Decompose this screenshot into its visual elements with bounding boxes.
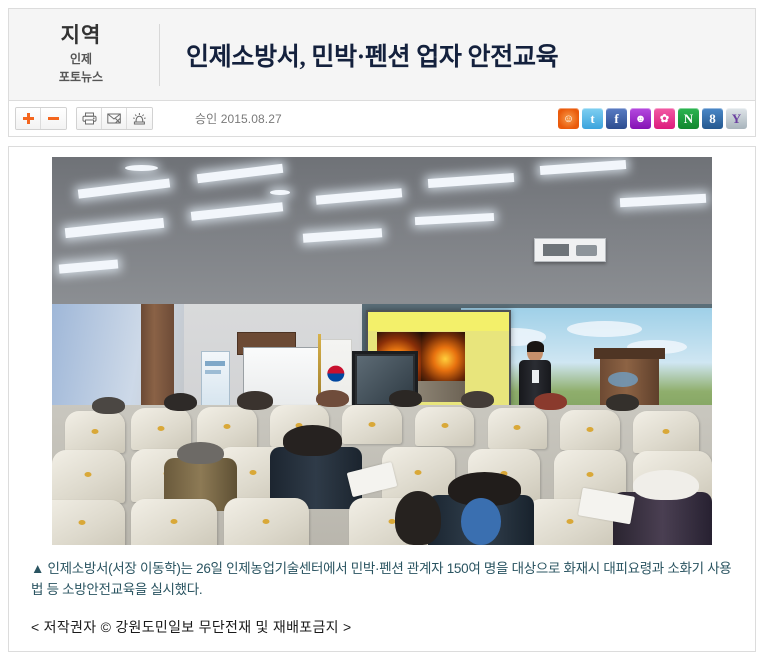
article-body: ▲ 인제소방서(서장 이동학)는 26일 인제농업기술센터에서 민박·펜션 관계… xyxy=(8,146,756,652)
caption-text: 인제소방서(서장 이동학)는 26일 인제농업기술센터에서 민박·펜션 관계자 … xyxy=(31,561,731,597)
auditorium-seat xyxy=(131,499,217,545)
audience-area xyxy=(52,405,712,545)
section-main-label: 지역 xyxy=(9,23,153,49)
screen-title-band xyxy=(368,312,509,331)
approve-date: 승인 2015.08.27 xyxy=(195,110,282,127)
font-increase-button[interactable] xyxy=(16,108,41,129)
attendee-head xyxy=(177,442,223,464)
attendee-head xyxy=(633,470,699,501)
copyright-notice: < 저작권자 © 강원도민일보 무단전재 및 재배포금지 > xyxy=(31,617,733,637)
attendee-head xyxy=(461,391,494,408)
sns-facebook-button[interactable]: f xyxy=(606,108,627,129)
auditorium-seat xyxy=(131,408,190,450)
section-category[interactable]: 지역 인제 포토뉴스 xyxy=(9,23,159,85)
scrap-button[interactable] xyxy=(127,108,152,129)
article-toolbar: 승인 2015.08.27 ☺ t f ☻ ✿ N 8 Y xyxy=(8,101,756,137)
auditorium-seat xyxy=(342,405,401,444)
downlight xyxy=(125,165,158,171)
attendee-head xyxy=(606,394,639,411)
minus-icon xyxy=(48,113,59,124)
sns-googleplus-glyph: 8 xyxy=(709,111,716,127)
mail-button[interactable] xyxy=(102,108,127,129)
auditorium-seat xyxy=(65,411,124,453)
section-sub-label-type: 포토뉴스 xyxy=(9,68,153,86)
projector xyxy=(534,238,607,261)
photo-wrap xyxy=(9,157,755,545)
auditorium-seat xyxy=(52,450,125,503)
sns-facebook-glyph: f xyxy=(614,111,618,127)
sns-yozm-button[interactable]: ✿ xyxy=(654,108,675,129)
sns-naver-glyph: N xyxy=(684,111,693,127)
siren-icon xyxy=(132,112,147,125)
font-size-button-group xyxy=(15,107,67,130)
sns-kakaostory-button[interactable]: ☻ xyxy=(630,108,651,129)
section-sub-label-region: 인제 xyxy=(9,50,153,68)
sns-yozm-glyph: ✿ xyxy=(660,112,669,125)
auditorium-seat xyxy=(52,500,125,545)
sns-naver-button[interactable]: N xyxy=(678,108,699,129)
sns-twitter-button[interactable]: t xyxy=(582,108,603,129)
article-header: 지역 인제 포토뉴스 인제소방서, 민박·펜션 업자 안전교육 xyxy=(8,8,756,101)
photo-caption: ▲ 인제소방서(서장 이동학)는 26일 인제농업기술센터에서 민박·펜션 관계… xyxy=(31,559,733,601)
attendee-head xyxy=(395,491,441,545)
sns-yahoo-button[interactable]: Y xyxy=(726,108,747,129)
sns-me2day-glyph: ☺ xyxy=(563,113,574,125)
article-page: 지역 인제 포토뉴스 인제소방서, 민박·펜션 업자 안전교육 xyxy=(0,0,764,670)
taegeuk-symbol xyxy=(327,365,344,382)
attendee-head xyxy=(316,390,349,407)
sns-twitter-glyph: t xyxy=(590,111,594,127)
sns-me2day-button[interactable]: ☺ xyxy=(558,108,579,129)
attendee-head xyxy=(389,390,422,407)
page-title: 인제소방서, 민박·펜션 업자 안전교육 xyxy=(186,37,755,73)
sns-googleplus-button[interactable]: 8 xyxy=(702,108,723,129)
sns-yahoo-glyph: Y xyxy=(732,111,741,127)
caption-marker: ▲ xyxy=(31,561,44,576)
article-action-group xyxy=(76,107,153,130)
mail-icon xyxy=(107,112,122,125)
auditorium-seat xyxy=(488,408,547,449)
sns-share-group: ☺ t f ☻ ✿ N 8 Y xyxy=(558,108,747,129)
attendee-cap xyxy=(461,498,501,545)
auditorium-seat xyxy=(560,410,619,451)
title-block: 인제소방서, 민박·펜션 업자 안전교육 xyxy=(160,37,755,73)
attendee-head xyxy=(164,393,197,411)
printer-icon xyxy=(82,112,97,125)
attendee-head xyxy=(534,393,567,410)
plus-icon xyxy=(23,113,34,124)
auditorium-seat xyxy=(415,407,474,446)
attendee-head xyxy=(237,391,273,409)
font-decrease-button[interactable] xyxy=(41,108,66,129)
auditorium-seat xyxy=(224,498,310,546)
attendee-head xyxy=(92,397,125,414)
auditorium-seat xyxy=(633,411,699,453)
attendee-head xyxy=(283,425,342,456)
sns-kakaostory-glyph: ☻ xyxy=(635,113,647,125)
print-button[interactable] xyxy=(77,108,102,129)
article-photo[interactable] xyxy=(52,157,712,545)
